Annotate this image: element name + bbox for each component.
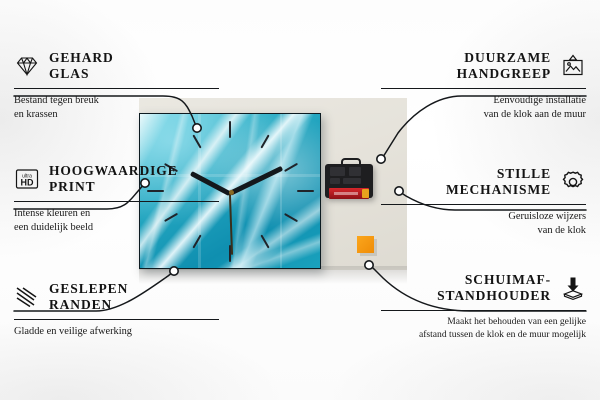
clock-center-pin bbox=[229, 190, 234, 195]
clock-movement bbox=[325, 158, 373, 198]
down-arrow-pad-icon bbox=[560, 275, 586, 301]
feature-title-line2: STANDHOUDER bbox=[437, 288, 551, 304]
feature-divider bbox=[14, 201, 219, 202]
feature-desc-line2: van de klok bbox=[381, 224, 586, 238]
feature-desc-line1: Gladde en veilige afwerking bbox=[14, 325, 219, 339]
ultra-hd-icon: ultra HD bbox=[14, 166, 40, 192]
feature-desc-line1: Bestand tegen breuk bbox=[14, 94, 219, 108]
feature-geslepen-randen: GESLEPEN RANDEN Gladde en veilige afwerk… bbox=[14, 281, 219, 339]
feature-title-line2: HANDGREEP bbox=[457, 66, 551, 82]
feature-divider bbox=[14, 319, 219, 320]
feature-stille-mechanisme: STILLE MECHANISME Geruisloze wijzers van… bbox=[381, 166, 586, 238]
feature-desc-line2: en krassen bbox=[14, 108, 219, 122]
feature-desc-line2: van de klok aan de muur bbox=[381, 108, 586, 122]
feature-title-line2: RANDEN bbox=[49, 297, 128, 313]
feature-title-line1: STILLE bbox=[446, 166, 551, 182]
feature-title-line1: HOOGWAARDIGE bbox=[49, 163, 178, 179]
feature-schuimafstandhouder: SCHUIMAF- STANDHOUDER Maakt het behouden… bbox=[381, 272, 586, 342]
gear-icon bbox=[560, 169, 586, 195]
movement-body bbox=[325, 164, 373, 198]
movement-battery bbox=[329, 188, 369, 199]
feature-title-line1: GEHARD bbox=[49, 50, 114, 66]
feature-gehard-glas: GEHARD GLAS Bestand tegen breuk en krass… bbox=[14, 50, 219, 122]
feature-title-line1: GESLEPEN bbox=[49, 281, 128, 297]
feature-divider bbox=[381, 88, 586, 89]
feature-desc-line2: afstand tussen de klok en de muur mogeli… bbox=[381, 329, 586, 342]
feature-title-line2: GLAS bbox=[49, 66, 114, 82]
feature-title-line1: DUURZAME bbox=[457, 50, 551, 66]
feature-title-line2: MECHANISME bbox=[446, 182, 551, 198]
picture-frame-hanging-icon bbox=[560, 53, 586, 79]
svg-text:HD: HD bbox=[21, 178, 34, 188]
feature-title-line1: SCHUIMAF- bbox=[437, 272, 551, 288]
feature-desc-line1: Maakt het behouden van een gelijke bbox=[381, 316, 586, 329]
feature-duurzame-handgreep: DUURZAME HANDGREEP Eenvoudige installati… bbox=[381, 50, 586, 122]
feature-divider bbox=[381, 204, 586, 205]
feature-divider bbox=[14, 88, 219, 89]
feature-title-line2: PRINT bbox=[49, 179, 178, 195]
feature-desc-line1: Intense kleuren en bbox=[14, 207, 219, 221]
feature-desc-line1: Geruisloze wijzers bbox=[381, 210, 586, 224]
diagonal-lines-icon bbox=[14, 284, 40, 310]
foam-spacer-pad bbox=[357, 236, 374, 253]
feature-hoogwaardige-print: ultra HD HOOGWAARDIGE PRINT Intense kleu… bbox=[14, 163, 219, 235]
feature-desc-line2: een duidelijk beeld bbox=[14, 221, 219, 235]
feature-divider bbox=[381, 310, 586, 311]
product-infographic: GEHARD GLAS Bestand tegen breuk en krass… bbox=[0, 0, 600, 400]
feature-desc-line1: Eenvoudige installatie bbox=[381, 94, 586, 108]
diamond-icon bbox=[14, 53, 40, 79]
